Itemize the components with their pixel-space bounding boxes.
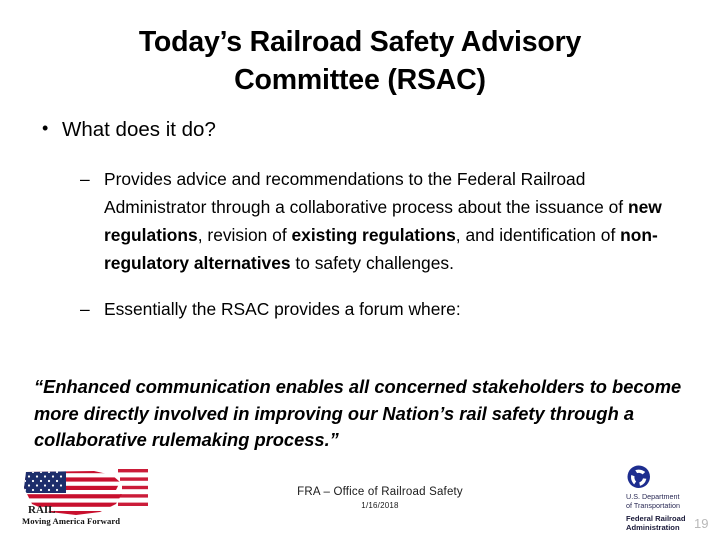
page-title: Today’s Railroad Safety Advisory Committ… [40,24,680,100]
dot-triskelion-icon [626,464,656,491]
bullet-level2-rich-text: Provides advice and recommendations to t… [104,169,662,274]
bullet-level1-text: What does it do? [62,118,216,141]
footer-center: FRA – Office of Railroad Safety 1/16/201… [210,486,550,510]
fra-line-2: Administration [626,523,700,532]
text-run: , and identification of [456,225,620,245]
bullet-marker-dash: – [80,295,90,323]
bullet-level1-what-does-it-do: • What does it do? [0,118,720,143]
text-run: , revision of [198,225,292,245]
bullet-level2-essentially-forum: – Essentially the RSAC provides a forum … [0,295,720,323]
bullet-marker-dot: • [42,118,48,140]
text-run: Provides advice and recommendations to t… [104,169,628,217]
slide-canvas: Today’s Railroad Safety Advisory Committ… [0,0,720,540]
rail-wordmark: RAIL [28,504,56,516]
footer-date: 1/16/2018 [210,501,550,510]
footer-office-title: FRA – Office of Railroad Safety [210,486,550,498]
rail-flag-map-icon: RAIL [20,468,148,520]
title-line-1: Today’s Railroad Safety Advisory [40,24,680,62]
title-line-2: Committee (RSAC) [40,62,680,100]
pull-quote: “Enhanced communication enables all conc… [34,374,684,454]
spacer [0,143,720,165]
body-content: • What does it do? – Provides advice and… [0,118,720,324]
emphasis-run: existing regulations [292,225,456,245]
fra-agency-text: Federal Railroad Administration [626,514,700,533]
spacer [0,277,720,295]
dot-line-2: of Transportation [626,502,700,511]
bullet-level2-text: Essentially the RSAC provides a forum wh… [104,299,461,319]
fra-line-1: Federal Railroad [626,514,700,523]
bullet-marker-dash: – [80,165,90,193]
page-number: 19 [694,516,708,531]
text-run: to safety challenges. [291,253,454,273]
bullet-level2-provides-advice: – Provides advice and recommendations to… [0,165,720,278]
dot-fra-logo: U.S. Department of Transportation Federa… [626,464,700,534]
rail-tagline: Moving America Forward [22,516,120,526]
dot-department-text: U.S. Department of Transportation [626,493,700,511]
